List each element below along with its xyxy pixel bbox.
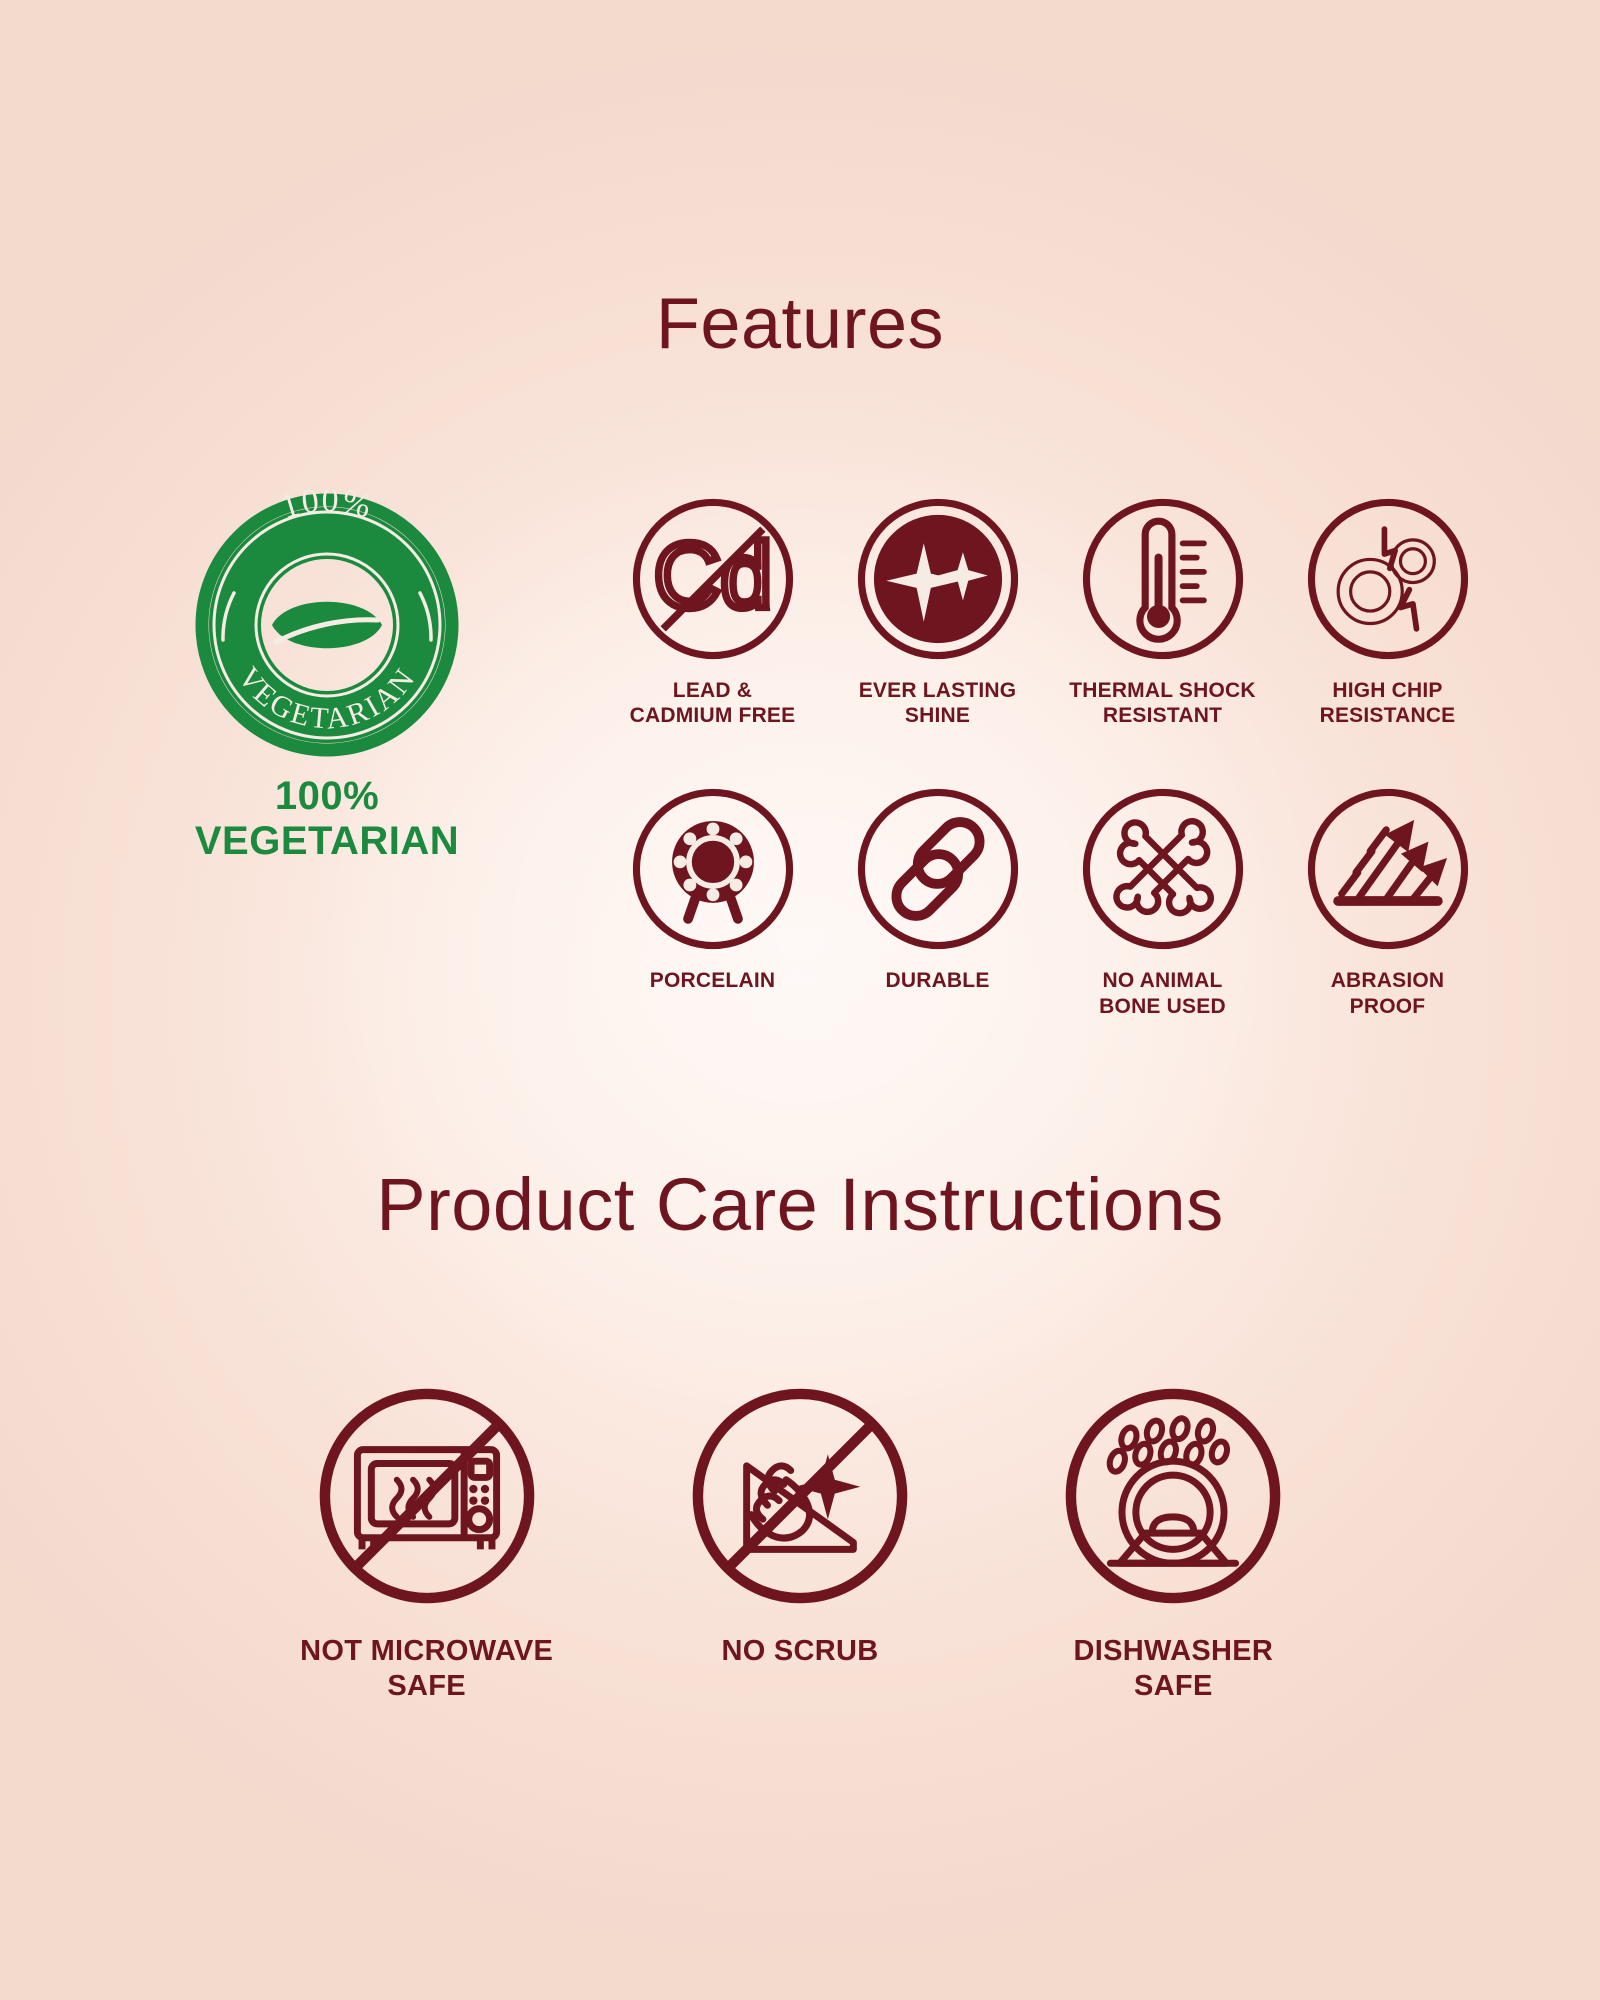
no-microwave-icon bbox=[311, 1380, 543, 1612]
no-scrub-icon bbox=[684, 1380, 916, 1612]
vegetarian-caption: 100% VEGETARIAN bbox=[152, 774, 502, 864]
chip-resistance-icon bbox=[1299, 490, 1477, 668]
abrasion-arrows-icon bbox=[1299, 780, 1477, 958]
feature-label: EVER LASTING SHINE bbox=[859, 678, 1017, 728]
feature-item-lead-cadmium-free: Cd LEAD & CADMIUM FREE bbox=[600, 490, 825, 728]
care-label: NO SCRUB bbox=[721, 1634, 878, 1669]
feature-label: ABRASION PROOF bbox=[1331, 968, 1445, 1018]
care-section-title: Product Care Instructions bbox=[0, 1168, 1600, 1242]
vegetarian-badge-block: 100% VEGETARIAN 100% VEGETARIAN bbox=[152, 490, 502, 864]
feature-label: PORCELAIN bbox=[650, 968, 775, 993]
sparkle-shine-icon bbox=[849, 490, 1027, 668]
vegetarian-caption-line1: 100% bbox=[275, 774, 379, 818]
feature-item-abrasion-proof: ABRASION PROOF bbox=[1275, 780, 1500, 1018]
feature-item-high-chip-resistance: HIGH CHIP RESISTANCE bbox=[1275, 490, 1500, 728]
chain-link-icon bbox=[849, 780, 1027, 958]
feature-label: THERMAL SHOCK RESISTANT bbox=[1069, 678, 1256, 728]
leaf-icon bbox=[272, 602, 382, 649]
care-item-no-scrub: NO SCRUB bbox=[613, 1380, 986, 1704]
no-lead-cadmium-icon: Cd bbox=[624, 490, 802, 668]
porcelain-plate-icon bbox=[624, 780, 802, 958]
thermometer-icon bbox=[1074, 490, 1252, 668]
feature-item-durable: DURABLE bbox=[825, 780, 1050, 1018]
feature-item-thermal-shock-resistant: THERMAL SHOCK RESISTANT bbox=[1050, 490, 1275, 728]
care-instructions-row: NOT MICROWAVE SAFE NO SCRUB bbox=[240, 1380, 1360, 1704]
care-label: DISHWASHER SAFE bbox=[1074, 1634, 1274, 1704]
feature-label: DURABLE bbox=[885, 968, 989, 993]
features-grid: Cd LEAD & CADMIUM FREE EVER LASTING SHIN… bbox=[600, 490, 1500, 1019]
feature-item-porcelain: PORCELAIN bbox=[600, 780, 825, 1018]
feature-item-ever-lasting-shine: EVER LASTING SHINE bbox=[825, 490, 1050, 728]
vegetarian-caption-line2: VEGETARIAN bbox=[152, 819, 502, 864]
feature-item-no-animal-bone-used: NO ANIMAL BONE USED bbox=[1050, 780, 1275, 1018]
feature-label: NO ANIMAL BONE USED bbox=[1099, 968, 1226, 1018]
feature-label: LEAD & CADMIUM FREE bbox=[630, 678, 796, 728]
care-item-dishwasher-safe: DISHWASHER SAFE bbox=[987, 1380, 1360, 1704]
features-section-title: Features bbox=[0, 288, 1600, 360]
infographic-page: Features 100% VEGETARIAN bbox=[0, 0, 1600, 2000]
care-label: NOT MICROWAVE SAFE bbox=[300, 1634, 553, 1704]
care-item-not-microwave-safe: NOT MICROWAVE SAFE bbox=[240, 1380, 613, 1704]
feature-label: HIGH CHIP RESISTANCE bbox=[1320, 678, 1456, 728]
crossed-bones-icon bbox=[1074, 780, 1252, 958]
dishwasher-safe-icon bbox=[1057, 1380, 1289, 1612]
vegetarian-seal-icon: 100% VEGETARIAN bbox=[152, 490, 502, 760]
